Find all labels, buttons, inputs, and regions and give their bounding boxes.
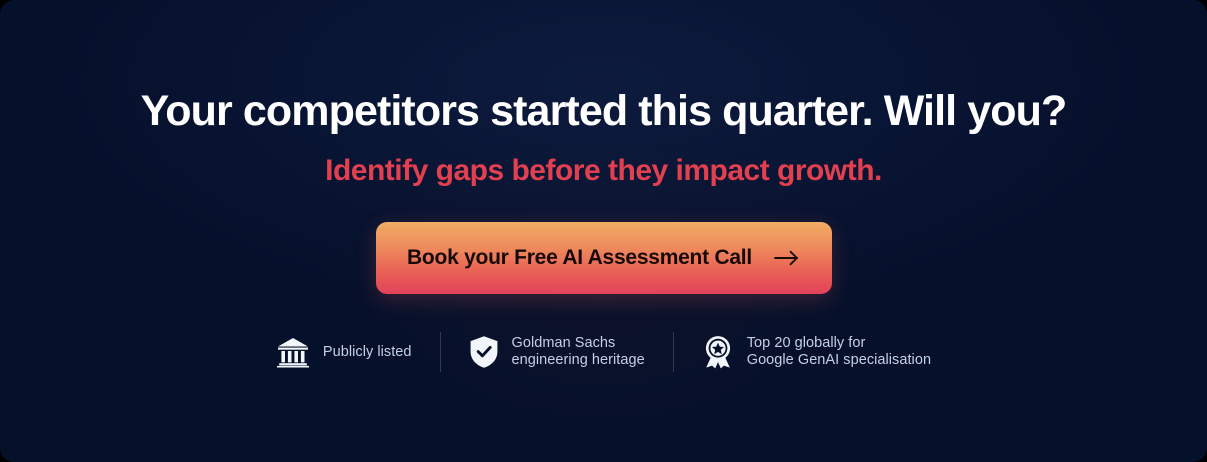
badge-divider bbox=[673, 332, 674, 372]
trust-badge-goldman-sachs: Goldman Sachs engineering heritage bbox=[469, 335, 645, 369]
award-medal-icon bbox=[702, 335, 734, 369]
cta-content: Your competitors started this quarter. W… bbox=[0, 0, 1207, 372]
book-assessment-call-button[interactable]: Book your Free AI Assessment Call bbox=[376, 222, 832, 294]
subheadline: Identify gaps before they impact growth. bbox=[325, 134, 882, 187]
cta-button-label: Book your Free AI Assessment Call bbox=[407, 246, 752, 270]
headline: Your competitors started this quarter. W… bbox=[141, 0, 1067, 134]
arrow-right-icon bbox=[774, 250, 800, 266]
trust-badge-google-genai: Top 20 globally for Google GenAI special… bbox=[702, 335, 931, 369]
shield-check-icon bbox=[469, 335, 499, 369]
trust-badge-label: Publicly listed bbox=[323, 344, 412, 361]
trust-badges: Publicly listed Goldman Sachs engineerin… bbox=[276, 332, 931, 372]
trust-badge-label: Top 20 globally for Google GenAI special… bbox=[747, 335, 931, 369]
cta-banner: Your competitors started this quarter. W… bbox=[0, 0, 1207, 462]
bank-icon bbox=[276, 336, 310, 368]
trust-badge-label: Goldman Sachs engineering heritage bbox=[512, 335, 645, 369]
trust-badge-publicly-listed: Publicly listed bbox=[276, 336, 412, 368]
badge-divider bbox=[440, 332, 441, 372]
